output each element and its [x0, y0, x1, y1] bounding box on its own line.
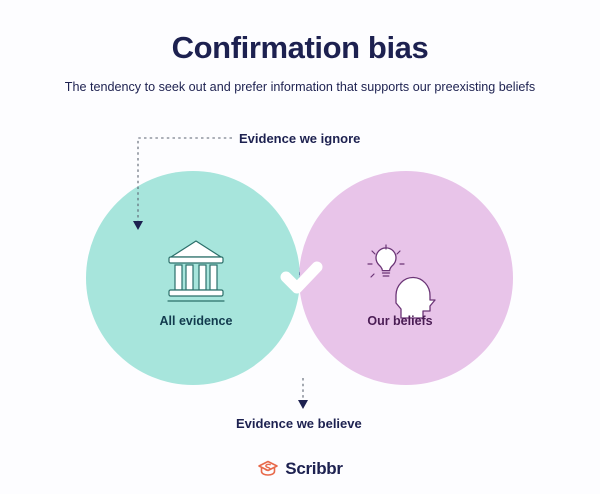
scribbr-logo[interactable]: Scribbr	[0, 459, 600, 479]
scribbr-wordmark: Scribbr	[285, 459, 342, 479]
callout-label-evidence-we-believe: Evidence we believe	[236, 416, 362, 431]
venn-circle-our-beliefs	[299, 171, 513, 385]
infographic-canvas: Confirmation bias The tendency to seek o…	[0, 0, 600, 494]
callout-label-evidence-we-ignore: Evidence we ignore	[239, 131, 360, 146]
scribbr-cap-icon	[257, 459, 279, 479]
callout-arrow-believe	[298, 400, 308, 409]
venn-label-our-beliefs: Our beliefs	[320, 314, 480, 328]
venn-label-all-evidence: All evidence	[96, 314, 296, 328]
